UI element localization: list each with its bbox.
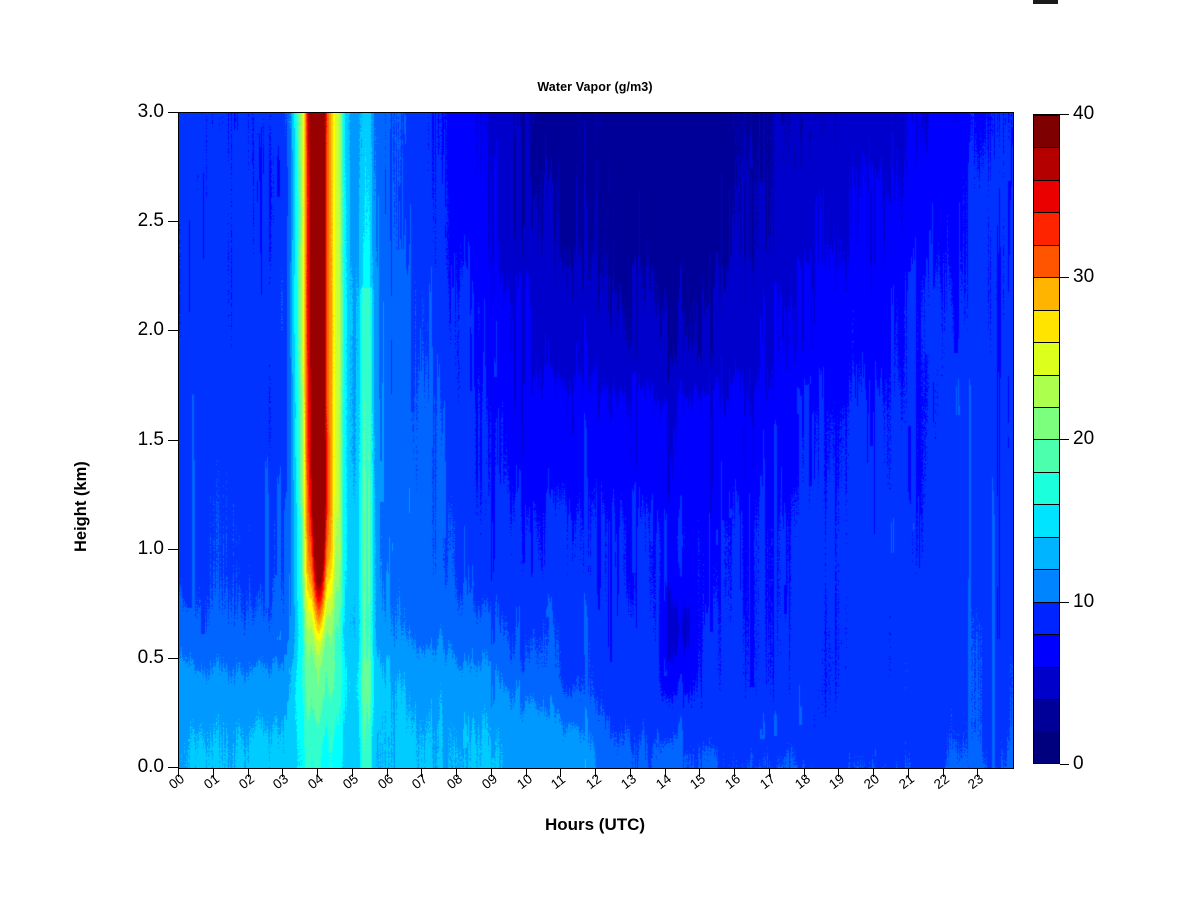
colorbar-band [1034,699,1059,731]
y-tick-label: 0.0 [138,756,164,778]
y-tick-label: 1.5 [138,429,164,451]
colorbar-band [1034,277,1059,309]
colorbar-tick-label: 0 [1073,753,1084,775]
x-tick-label: 15 [687,771,708,792]
x-tick-label: 19 [826,771,847,792]
x-tick-label: 16 [722,771,743,792]
x-tick-label: 11 [548,772,568,792]
x-tick-label: 10 [514,771,535,792]
x-tick-label: 00 [166,771,187,792]
colorbar-tick-mark [1060,277,1069,278]
y-tick-label: 0.5 [138,647,164,669]
colorbar-tick-label: 30 [1073,266,1094,288]
colorbar-tick-mark [1060,439,1069,440]
x-tick-label: 21 [896,771,917,792]
colorbar-band [1034,667,1059,699]
colorbar-ticks: 010203040 [1060,114,1130,764]
x-tick-label: 12 [583,771,604,792]
y-tick-label: 2.5 [138,210,164,232]
y-tick-mark [168,658,178,659]
x-tick-label: 02 [236,771,257,792]
x-tick-label: 23 [965,771,986,792]
colorbar-band [1034,375,1059,407]
colorbar-tick-mark [1060,764,1069,765]
colorbar-tick-label: 20 [1073,428,1094,450]
y-axis-title: Height (km) [72,461,91,552]
y-tick-mark [168,112,178,113]
colorbar-tick-label: 40 [1073,103,1094,125]
y-axis: Height (km) 0.00.51.01.52.02.53.0 [0,112,178,768]
x-tick-label: 01 [201,771,222,792]
colorbar-band [1034,634,1059,666]
heatmap-plot-panel[interactable] [178,112,1014,769]
colorbar-band [1034,439,1059,471]
y-tick-mark [168,330,178,331]
x-tick-label: 07 [409,771,430,792]
y-tick-mark [168,440,178,441]
colorbar-band [1034,212,1059,244]
y-tick-mark [168,549,178,550]
colorbar-band [1034,342,1059,374]
colorbar-band [1034,732,1059,763]
colorbar-bands [1033,114,1060,764]
colorbar-band [1034,407,1059,439]
colorbar-band [1034,147,1059,179]
water-vapor-field [179,113,1013,768]
colorbar-band [1034,245,1059,277]
x-tick-label: 18 [792,771,813,792]
colorbar-band [1034,569,1059,601]
x-tick-label: 03 [270,771,291,792]
x-tick-label: 20 [861,771,882,792]
x-tick-label: 05 [340,771,361,792]
plot-title: Water Vapor (g/m3) [178,80,1012,94]
colorbar-band [1034,115,1059,147]
x-axis-title: Hours (UTC) [178,815,1012,835]
y-tick-label: 1.0 [138,538,164,560]
colorbar-tick-mark [1060,114,1069,115]
x-tick-label: 22 [931,771,952,792]
y-tick-label: 3.0 [138,101,164,123]
figure-canvas: Water Vapor (g/m3) Height (km) 0.00.51.0… [0,0,1200,900]
x-tick-label: 13 [618,771,639,792]
y-tick-label: 2.0 [138,319,164,341]
x-tick-label: 04 [305,771,326,792]
colorbar-band [1034,504,1059,536]
colorbar-band [1034,472,1059,504]
colorbar-tick-label: 10 [1073,591,1094,613]
colorbar-band [1034,310,1059,342]
x-tick-label: 08 [444,771,465,792]
x-tick-label: 09 [479,771,500,792]
colorbar-band [1034,537,1059,569]
x-tick-label: 14 [653,771,674,792]
colorbar-top-artifact [1033,0,1058,4]
colorbar-tick-mark [1060,602,1069,603]
y-tick-mark [168,221,178,222]
y-tick-mark [168,767,178,768]
colorbar-band [1034,602,1059,634]
x-tick-label: 17 [757,771,778,792]
colorbar-band [1034,180,1059,212]
colorbar[interactable]: 010203040 [1033,114,1060,764]
x-tick-label: 06 [375,771,396,792]
